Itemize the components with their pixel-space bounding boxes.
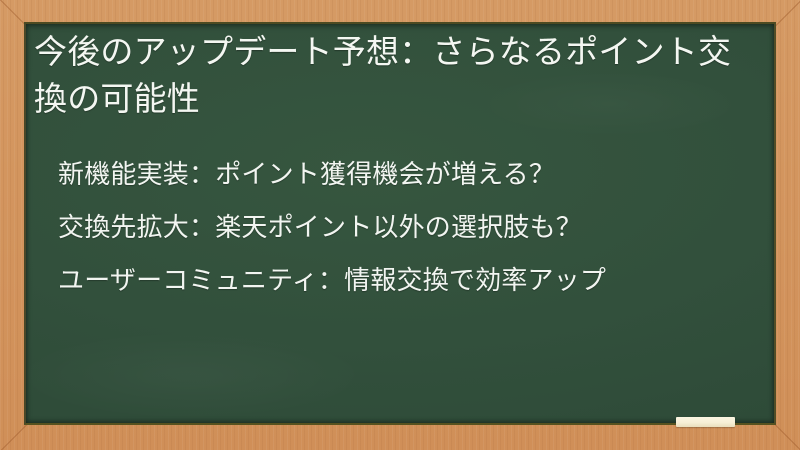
blackboard-content: 今後のアップデート予想：さらなるポイント交換の可能性 新機能実装：ポイント獲得機… bbox=[26, 24, 774, 423]
bullet-list: 新機能実装：ポイント獲得機会が増える？ 交換先拡大：楽天ポイント以外の選択肢も？… bbox=[58, 148, 748, 307]
blackboard-surface: 今後のアップデート予想：さらなるポイント交換の可能性 新機能実装：ポイント獲得機… bbox=[24, 22, 776, 425]
blackboard-slide: 今後のアップデート予想：さらなるポイント交換の可能性 新機能実装：ポイント獲得機… bbox=[0, 0, 800, 450]
bullet-item-1: 新機能実装：ポイント獲得機会が増える？ bbox=[58, 148, 748, 201]
bullet-item-2: 交換先拡大：楽天ポイント以外の選択肢も？ bbox=[58, 201, 748, 254]
slide-title: 今後のアップデート予想：さらなるポイント交換の可能性 bbox=[34, 28, 734, 122]
bullet-item-3: ユーザーコミュニティ：情報交換で効率アップ bbox=[58, 254, 748, 307]
